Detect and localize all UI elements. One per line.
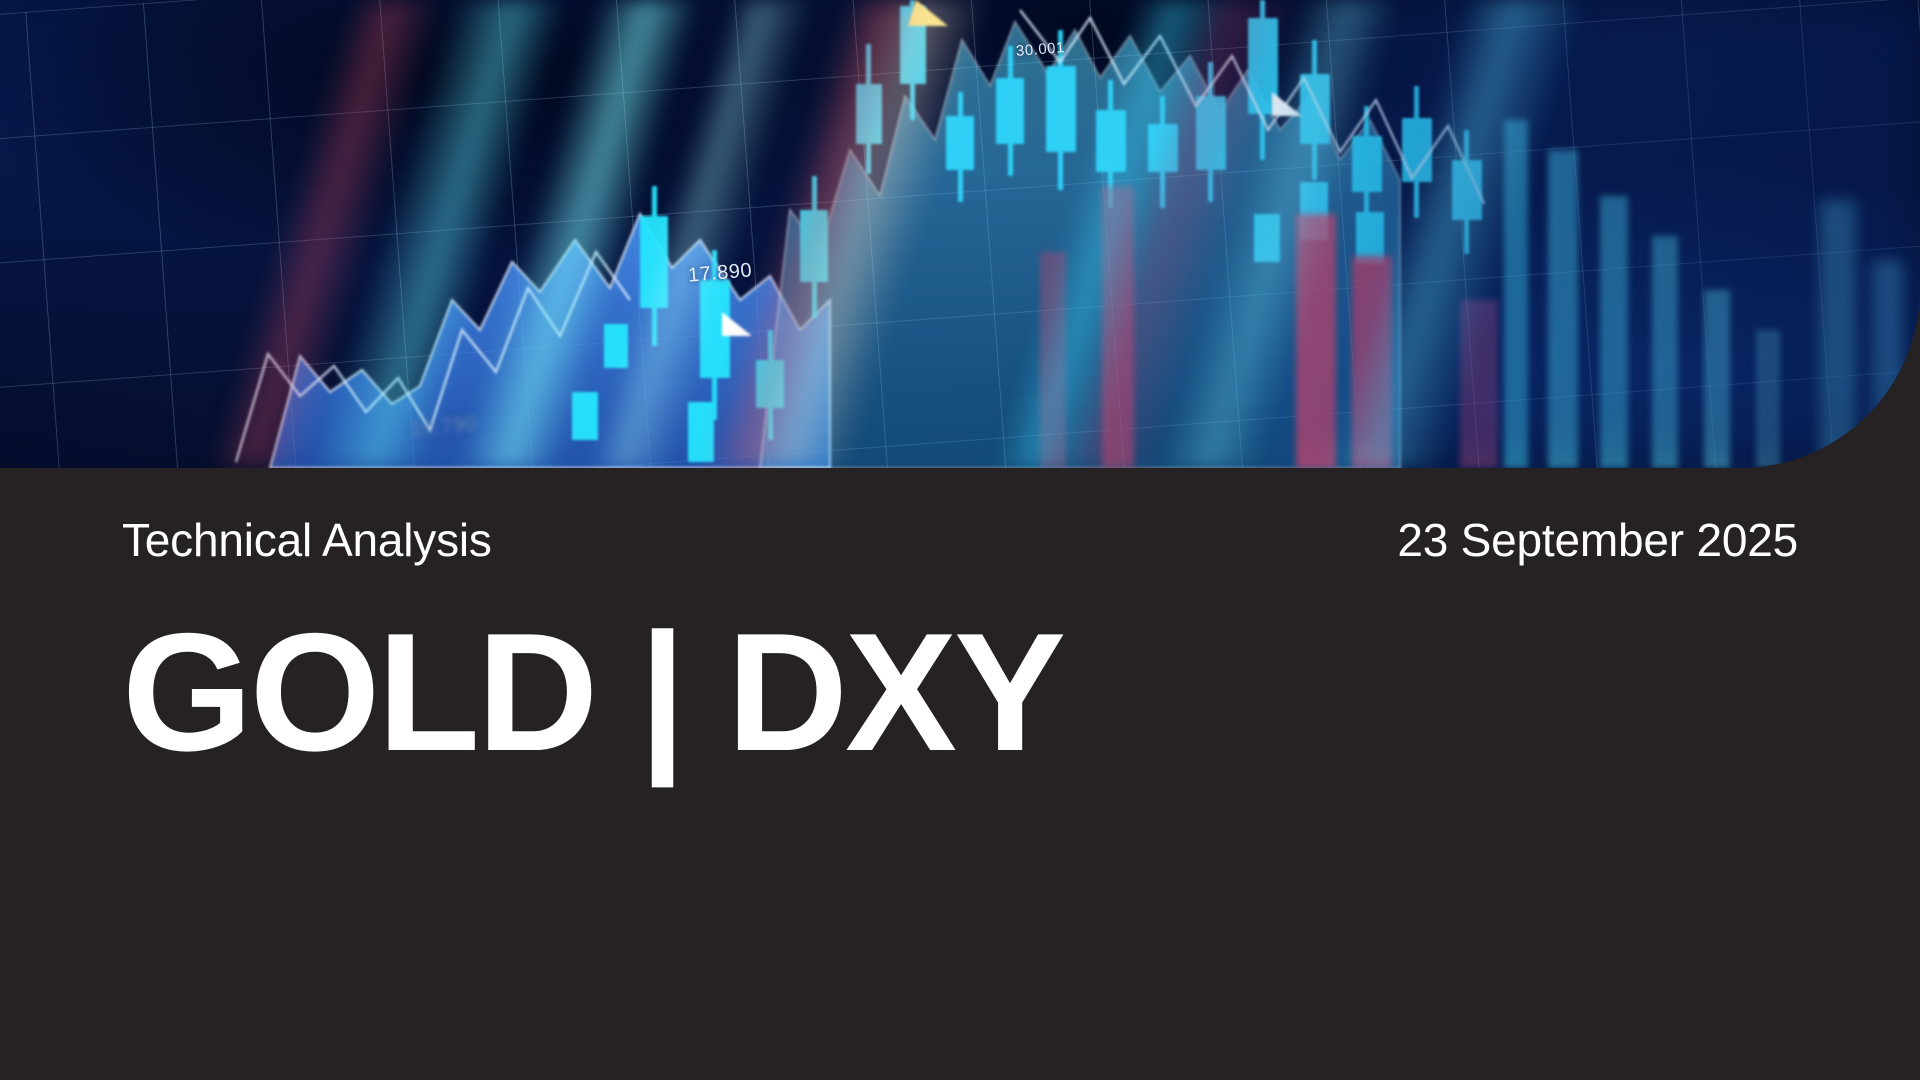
header-row: Technical Analysis 23 September 2025: [122, 517, 1798, 563]
page-title: GOLD | DXY: [122, 608, 1063, 776]
banner-vignette: [0, 0, 1920, 468]
category-label: Technical Analysis: [122, 517, 492, 563]
slide-root: 30.001 17.890 10.790 Technical Analysis …: [0, 0, 1920, 1080]
financial-chart-banner: 30.001 17.890 10.790: [0, 0, 1920, 468]
publish-date: 23 September 2025: [1397, 517, 1798, 563]
content-panel: Technical Analysis 23 September 2025 GOL…: [0, 468, 1920, 1080]
